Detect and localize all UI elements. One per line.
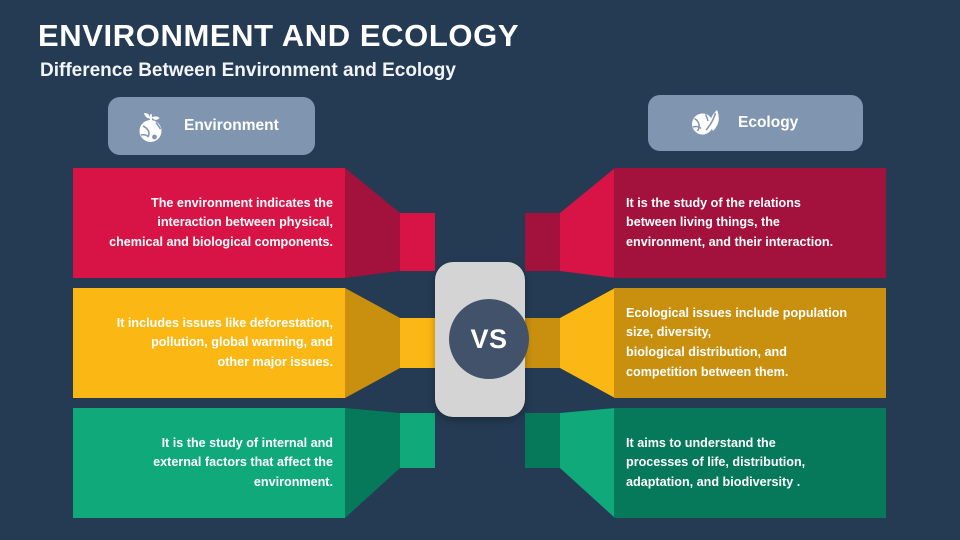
vs-label: VS: [470, 324, 507, 355]
pill-ecology-label: Ecology: [738, 114, 798, 132]
right-panel-amber-text: Ecological issues include populationsize…: [614, 288, 886, 398]
left-panel-green-text: It is the study of internal andexternal …: [73, 408, 345, 518]
right-panel-green-text: It aims to understand theprocesses of li…: [614, 408, 886, 518]
globe-sprout-icon: [134, 108, 170, 144]
globe-leaf-icon: [688, 105, 724, 141]
right-funnel-red: [560, 168, 615, 278]
left-funnel-red: [345, 168, 400, 278]
left-funnel-green: [345, 408, 400, 518]
pill-environment-label: Environment: [184, 117, 279, 135]
right-connector-red: [525, 213, 560, 271]
left-panel-red-text: The environment indicates theinteraction…: [73, 168, 345, 278]
right-connector-green: [525, 413, 560, 468]
vs-badge: VS: [435, 262, 525, 417]
page-title: ENVIRONMENT AND ECOLOGY: [38, 18, 519, 54]
slide-canvas: ENVIRONMENT AND ECOLOGY Difference Betwe…: [0, 0, 960, 540]
left-panel-amber-text: It includes issues like deforestation,po…: [73, 288, 345, 398]
vs-circle: VS: [449, 299, 529, 379]
left-funnel-amber: [345, 288, 400, 398]
left-connector-amber: [400, 318, 435, 368]
right-panel-red-text: It is the study of the relationsbetween …: [614, 168, 886, 278]
comparison-row-green: It is the study of internal andexternal …: [0, 408, 960, 518]
pill-ecology[interactable]: Ecology: [648, 95, 863, 151]
left-connector-red: [400, 213, 435, 271]
right-funnel-amber: [560, 288, 615, 398]
page-subtitle: Difference Between Environment and Ecolo…: [40, 60, 456, 82]
left-connector-green: [400, 413, 435, 468]
right-connector-amber: [525, 318, 560, 368]
pill-environment[interactable]: Environment: [108, 97, 315, 155]
right-funnel-green: [560, 408, 615, 518]
